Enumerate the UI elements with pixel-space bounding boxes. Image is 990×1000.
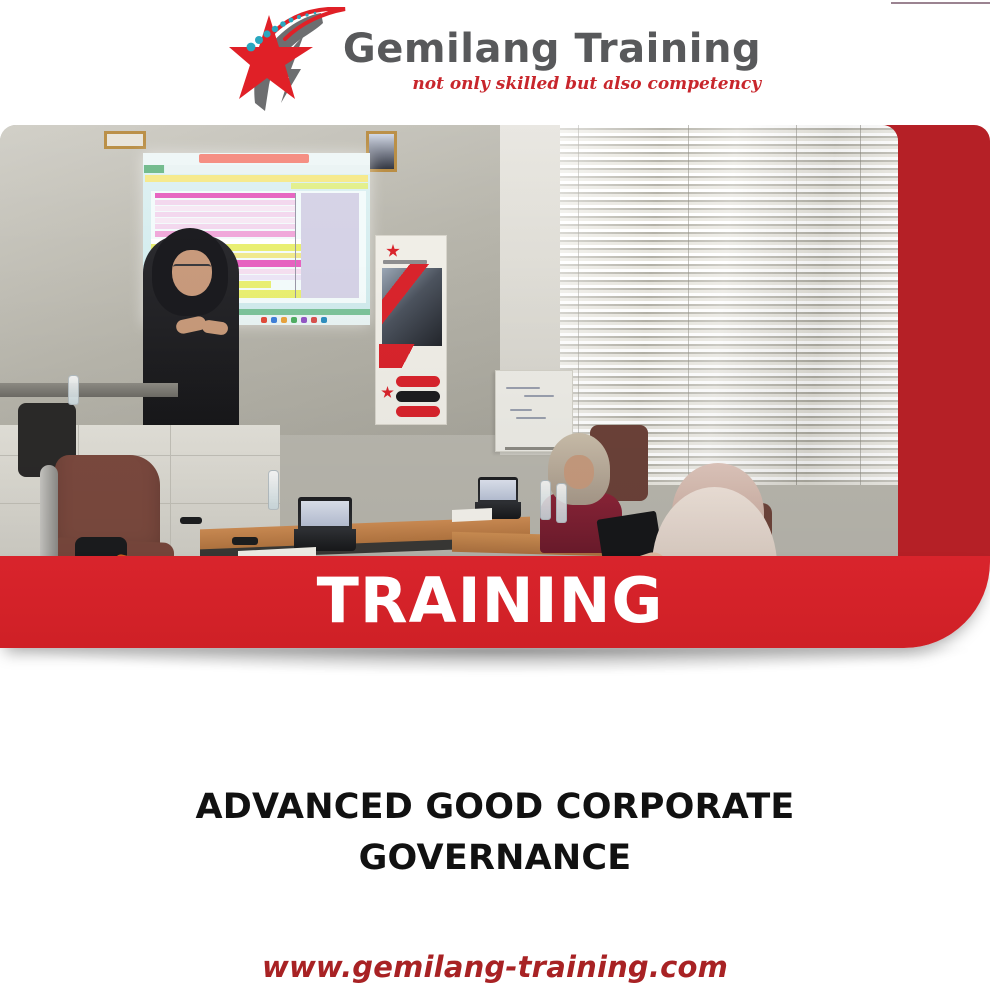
- water-bottle-1: [268, 470, 279, 510]
- table-back: [0, 383, 178, 397]
- presenter-face: [172, 250, 212, 296]
- classroom-photo: [0, 125, 898, 558]
- chair-foreground-frame: [40, 465, 58, 558]
- participant-1-face: [564, 455, 594, 489]
- presenter-glasses: [173, 264, 211, 271]
- banner-drop-shadow: [22, 648, 968, 674]
- classroom-scene: [0, 125, 898, 558]
- phone-3: [180, 517, 202, 524]
- course-title: ADVANCED GOOD CORPORATE GOVERNANCE: [95, 782, 895, 884]
- training-flyer-poster: Gemilang Training not only skilled but a…: [0, 0, 990, 1000]
- water-bottle-2: [68, 375, 79, 405]
- water-bottle-4: [556, 483, 567, 523]
- rollup-banner: [375, 235, 447, 425]
- training-banner-label: TRAINING: [317, 570, 664, 632]
- wall-picture-frame-left: [104, 131, 146, 149]
- brand-header: Gemilang Training not only skilled but a…: [0, 0, 990, 118]
- website-url[interactable]: www.gemilang-training.com: [0, 950, 990, 984]
- star-swoosh-logo-icon: [229, 7, 349, 111]
- papers-3: [452, 508, 492, 522]
- logo-lockup: Gemilang Training not only skilled but a…: [229, 7, 761, 111]
- hero-photo-block: [0, 125, 990, 558]
- brand-name: Gemilang Training: [343, 29, 761, 69]
- brand-tagline: not only skilled but also competency: [343, 76, 761, 93]
- wall-portrait-frame: [366, 131, 397, 172]
- water-bottle-3: [540, 480, 551, 520]
- phone-1: [232, 537, 258, 545]
- logo-wordmark: Gemilang Training not only skilled but a…: [343, 25, 761, 93]
- training-banner: TRAINING: [0, 556, 990, 648]
- rollup-star-icon: [386, 244, 400, 258]
- laptop-presenter-desk: [298, 497, 352, 551]
